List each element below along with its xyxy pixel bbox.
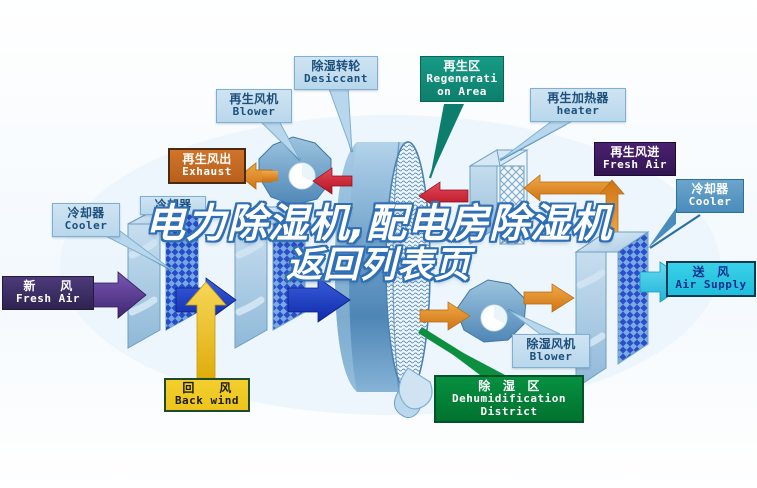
label-back-wind-en: Back wind	[168, 395, 246, 407]
label-fresh-air-inlet-cn: 新 风	[5, 280, 91, 293]
label-desiccant-rotor-cn: 除湿转轮	[297, 60, 375, 73]
label-cooler-left-1-cn: 冷却器	[55, 207, 117, 220]
label-regeneration-heater[interactable]: 再生加热器 heater	[530, 88, 626, 122]
label-dehumidification-blower[interactable]: 除湿风机 Blower	[512, 334, 590, 368]
label-cooler-left-2-cn: 冷却器	[143, 199, 203, 212]
label-regeneration-exhaust-cn: 再生风出	[172, 153, 242, 166]
label-regeneration-exhaust-en: Exhaust	[172, 166, 242, 178]
label-desiccant-rotor[interactable]: 除湿转轮 Desiccant	[294, 56, 378, 90]
label-regeneration-heater-en: heater	[533, 105, 623, 117]
label-air-supply-cn: 送 风	[670, 266, 752, 279]
label-regeneration-area-en-line2: on Area	[423, 86, 501, 98]
label-regeneration-fresh-air-in[interactable]: 再生风进 Fresh Air	[594, 142, 676, 176]
label-regeneration-blower-cn: 再生风机	[219, 93, 289, 106]
label-cooler-right-en: Cooler	[679, 196, 741, 208]
label-cooler-right[interactable]: 冷却器 Cooler	[676, 179, 744, 213]
watermark-text: xt	[394, 322, 406, 333]
label-dehumidification-blower-cn: 除湿风机	[515, 338, 587, 351]
label-regeneration-fresh-air-in-en: Fresh Air	[597, 159, 673, 171]
label-cooler-right-cn: 冷却器	[679, 183, 741, 196]
label-dehumidification-district[interactable]: 除 湿 区 Dehumidification District	[434, 375, 584, 423]
label-dehumidification-district-cn: 除 湿 区	[438, 380, 580, 393]
label-back-wind-cn: 回 风	[168, 382, 246, 395]
label-air-supply-en: Air Supply	[670, 279, 752, 291]
label-cooler-left-2[interactable]: 冷却器	[140, 196, 206, 215]
label-desiccant-rotor-en: Desiccant	[297, 73, 375, 85]
label-dehumidification-blower-en: Blower	[515, 351, 587, 363]
label-regeneration-blower[interactable]: 再生风机 Blower	[216, 89, 292, 123]
label-air-supply[interactable]: 送 风 Air Supply	[666, 261, 756, 297]
label-regeneration-blower-en: Blower	[219, 106, 289, 118]
label-dehumidification-district-en-line1: Dehumidification	[438, 393, 580, 405]
diagram-canvas: xt 除湿转轮 Desiccant 再生风机 Blower 再生区 Regene…	[0, 0, 757, 488]
label-back-wind[interactable]: 回 风 Back wind	[164, 378, 250, 412]
label-cooler-left-1-en: Cooler	[55, 220, 117, 232]
label-regeneration-exhaust[interactable]: 再生风出 Exhaust	[168, 148, 246, 184]
label-fresh-air-inlet-en: Fresh Air	[5, 293, 91, 305]
dehumidifier-schematic-illustration	[0, 0, 757, 488]
label-dehumidification-district-en-line2: District	[438, 406, 580, 418]
label-cooler-left-1[interactable]: 冷却器 Cooler	[52, 203, 120, 237]
label-regeneration-area[interactable]: 再生区 Regenerati on Area	[420, 56, 504, 102]
label-regeneration-area-en-line1: Regenerati	[423, 73, 501, 85]
label-regeneration-heater-cn: 再生加热器	[533, 92, 623, 105]
label-regeneration-area-cn: 再生区	[423, 60, 501, 73]
label-fresh-air-inlet[interactable]: 新 风 Fresh Air	[2, 276, 94, 310]
label-regeneration-fresh-air-in-cn: 再生风进	[597, 146, 673, 159]
